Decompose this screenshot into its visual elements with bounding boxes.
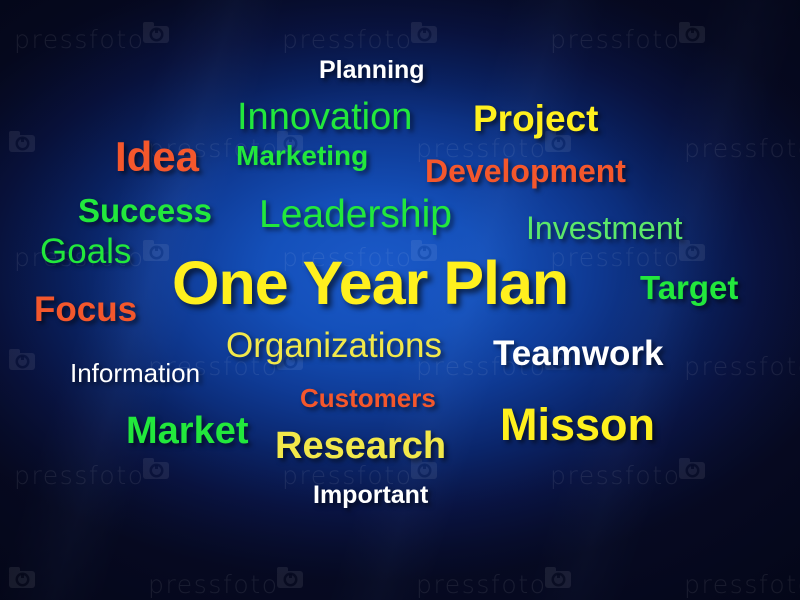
word-project: Project xyxy=(473,100,598,137)
word-idea: Idea xyxy=(115,136,199,178)
word-innovation: Innovation xyxy=(237,98,412,136)
word-teamwork: Teamwork xyxy=(493,336,664,371)
word-cloud-words: PlanningInnovationProjectIdeaMarketingDe… xyxy=(0,0,800,600)
word-target: Target xyxy=(640,271,738,304)
word-cloud-image: pressfotopressfotopressfotopressfotopres… xyxy=(0,0,800,600)
word-investment: Investment xyxy=(526,212,683,244)
word-important: Important xyxy=(313,483,428,508)
word-planning: Planning xyxy=(319,58,425,83)
word-goals: Goals xyxy=(40,234,131,269)
word-customers: Customers xyxy=(300,385,436,411)
word-development: Development xyxy=(425,155,626,187)
word-organizations: Organizations xyxy=(226,328,442,363)
word-market: Market xyxy=(126,412,249,450)
word-one-year-plan: One Year Plan xyxy=(172,253,568,314)
word-information: Information xyxy=(70,360,200,386)
word-leadership: Leadership xyxy=(259,195,452,234)
word-misson: Misson xyxy=(500,402,655,447)
word-marketing: Marketing xyxy=(236,142,368,170)
word-research: Research xyxy=(275,427,446,465)
word-success: Success xyxy=(78,194,212,227)
word-focus: Focus xyxy=(34,292,137,327)
